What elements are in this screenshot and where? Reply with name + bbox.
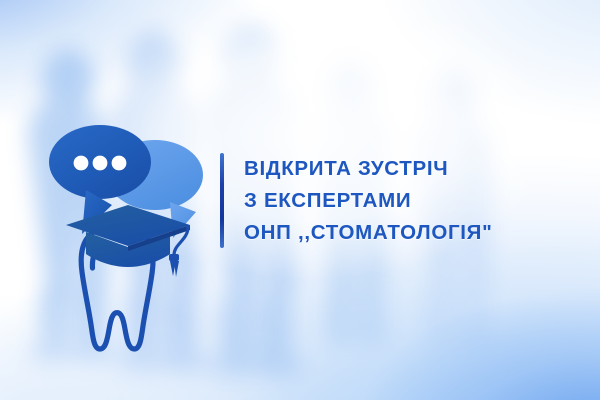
headline-line-1: ВІДКРИТА ЗУСТРІЧ xyxy=(244,153,493,184)
headline-lines: ВІДКРИТА ЗУСТРІЧ З ЕКСПЕРТАМИ ОНП ,,СТОМ… xyxy=(244,153,493,248)
accent-rule xyxy=(220,153,224,248)
headline-line-3: ОНП ,,СТОМАТОЛОГІЯ" xyxy=(244,217,493,248)
event-announcement-banner: ВІДКРИТА ЗУСТРІЧ З ЕКСПЕРТАМИ ОНП ,,СТОМ… xyxy=(0,0,600,400)
bubble-dots-icon xyxy=(74,156,127,171)
headline-line-2: З ЕКСПЕРТАМИ xyxy=(244,185,493,216)
headline-block: ВІДКРИТА ЗУСТРІЧ З ЕКСПЕРТАМИ ОНП ,,СТОМ… xyxy=(220,153,493,248)
dental-education-logo xyxy=(42,108,222,320)
